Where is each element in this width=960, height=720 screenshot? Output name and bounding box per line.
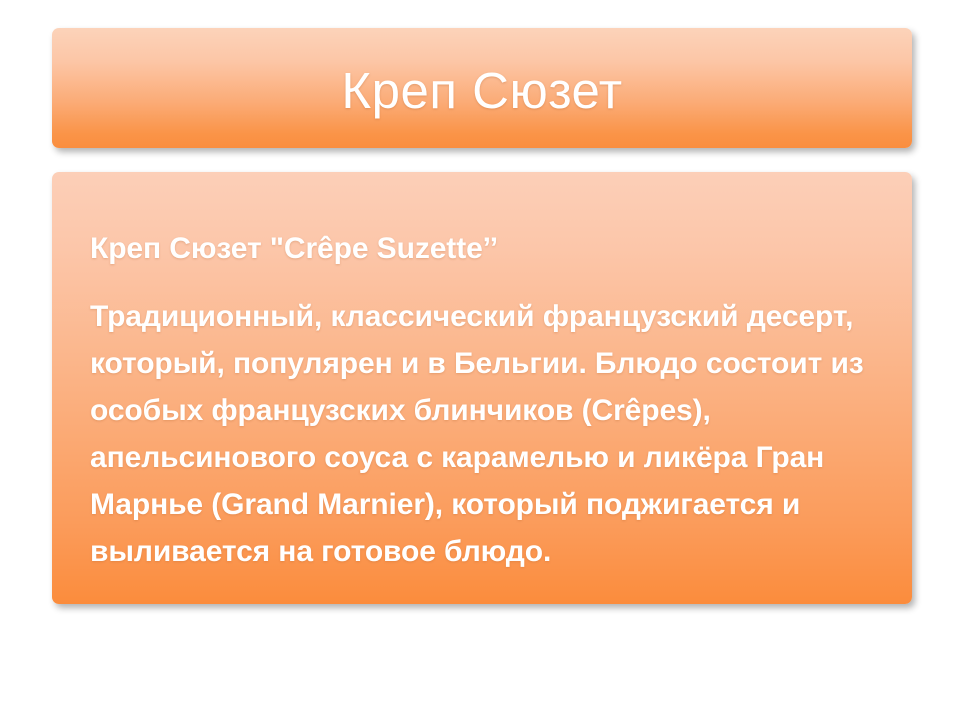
slide-content-box: Креп Сюзет "Crêpe Suzette’’ Традиционный… <box>52 172 912 604</box>
content-paragraph: Традиционный, классический французский д… <box>90 293 880 575</box>
slide-title-box: Креп Сюзет <box>52 28 912 148</box>
content-heading-line: Креп Сюзет "Crêpe Suzette’’ <box>90 225 890 272</box>
slide-canvas: Креп Сюзет Креп Сюзет "Crêpe Suzette’’ Т… <box>0 0 960 720</box>
slide-content-inner: Креп Сюзет "Crêpe Suzette’’ Традиционный… <box>90 225 890 575</box>
slide-title: Креп Сюзет <box>341 57 622 119</box>
